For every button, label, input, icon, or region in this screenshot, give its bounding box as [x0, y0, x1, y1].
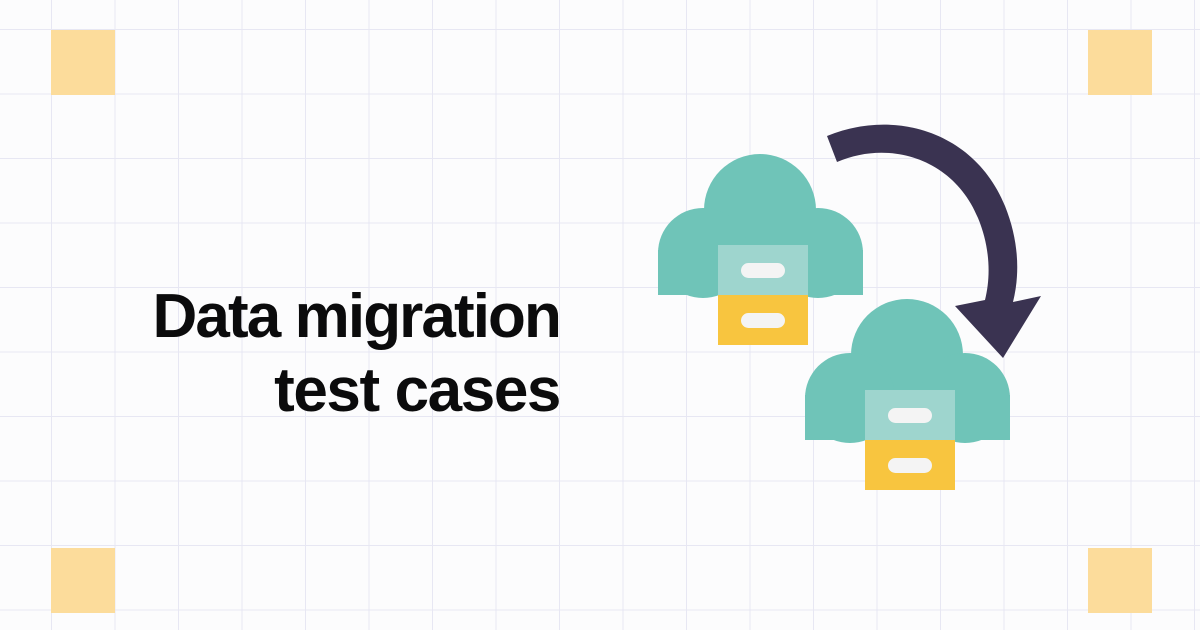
- destination-drawer-lower-handle: [888, 458, 932, 473]
- page-title-line-1: Data migration: [60, 280, 560, 354]
- destination-drawer-upper-handle: [888, 408, 932, 423]
- source-cloud-server-icon: [658, 154, 863, 345]
- poster-canvas: Data migration test cases: [0, 0, 1200, 630]
- page-title-line-2: test cases: [60, 354, 560, 428]
- source-drawer-lower-handle: [741, 313, 785, 328]
- accent-square-bottom-right: [1088, 548, 1152, 613]
- accent-square-bottom-left: [51, 548, 115, 613]
- page-title: Data migration test cases: [60, 280, 560, 428]
- source-drawer-upper-handle: [741, 263, 785, 278]
- cloud-migration-illustration: [645, 110, 1045, 500]
- accent-square-top-left: [51, 30, 115, 95]
- accent-square-top-right: [1088, 30, 1152, 95]
